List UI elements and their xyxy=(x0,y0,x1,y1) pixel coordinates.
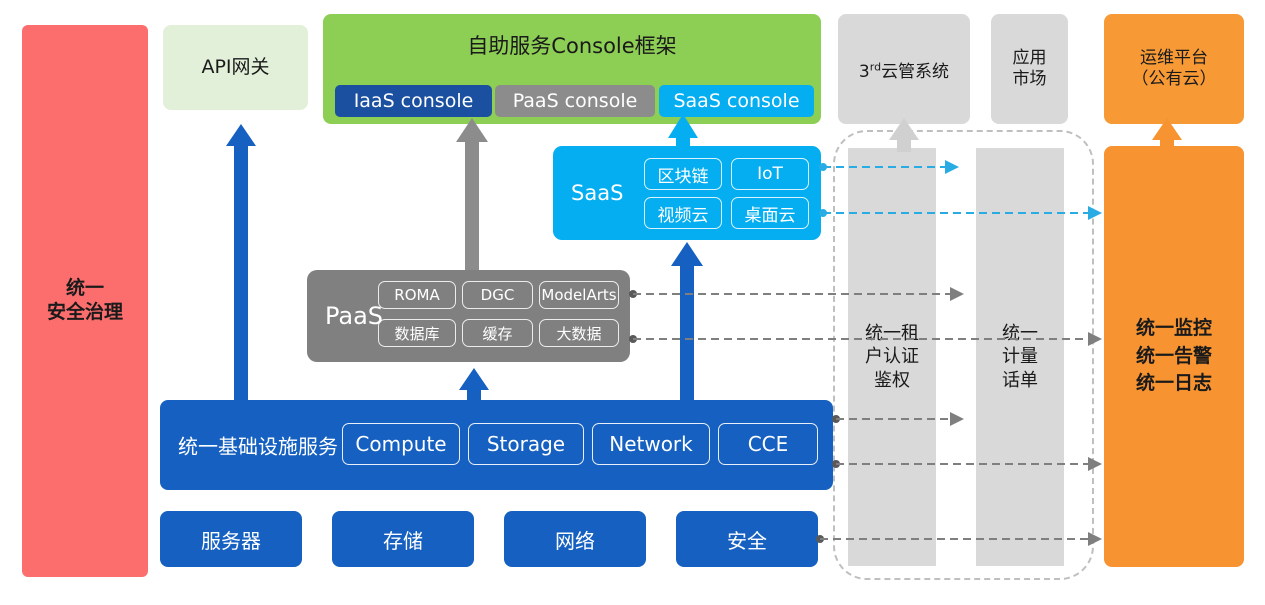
infra-item-compute[interactable]: Compute xyxy=(342,423,460,465)
saas-item-video-cloud-label: 视频云 xyxy=(658,201,709,226)
infra-item-compute-label: Compute xyxy=(355,432,446,456)
paas-item-modelarts-label: ModelArts xyxy=(541,286,616,304)
resource-box-network-label: 网络 xyxy=(555,525,595,554)
arrow-infra-to-api-gateway xyxy=(226,124,256,400)
console-frame-title: 自助服务Console框架 xyxy=(323,30,821,60)
paas-item-cache[interactable]: 缓存 xyxy=(462,319,533,347)
unified-infrastructure-label: 统一基础设施服务 xyxy=(178,431,338,460)
third-party-cloud-mgmt-label: 3rd云管系统 xyxy=(859,57,949,82)
resource-box-server-label: 服务器 xyxy=(201,525,261,554)
paas-item-modelarts[interactable]: ModelArts xyxy=(539,281,619,309)
unified-tenant-auth-label: 统一租 户认证 鉴权 xyxy=(865,322,919,392)
iaas-console-chip[interactable]: IaaS console xyxy=(335,85,492,117)
paas-item-roma[interactable]: ROMA xyxy=(378,281,456,309)
ops-platform-top-box: 运维平台 （公有云） xyxy=(1104,14,1244,124)
resource-box-storage[interactable]: 存储 xyxy=(332,511,474,567)
ops-platform-top-label: 运维平台 （公有云） xyxy=(1132,48,1217,91)
saas-item-blockchain[interactable]: 区块链 xyxy=(644,158,722,190)
resource-box-storage-label: 存储 xyxy=(383,525,423,554)
arrow-infra-to-saas xyxy=(671,242,703,400)
ops-monitoring-label: 统一监控 统一告警 统一日志 xyxy=(1136,315,1212,398)
infra-item-cce[interactable]: CCE xyxy=(718,423,818,465)
infra-item-cce-label: CCE xyxy=(748,432,789,456)
saas-console-chip[interactable]: SaaS console xyxy=(659,85,814,117)
saas-console-label: SaaS console xyxy=(673,90,799,112)
iaas-console-label: IaaS console xyxy=(354,90,474,112)
saas-item-blockchain-label: 区块链 xyxy=(658,162,709,187)
infra-item-storage[interactable]: Storage xyxy=(468,423,584,465)
paas-item-dgc-label: DGC xyxy=(481,286,515,304)
saas-item-video-cloud[interactable]: 视频云 xyxy=(644,197,722,229)
infra-item-network[interactable]: Network xyxy=(592,423,710,465)
api-gateway-box: API网关 xyxy=(163,25,308,110)
infra-item-storage-label: Storage xyxy=(487,432,565,456)
paas-item-roma-label: ROMA xyxy=(394,286,439,304)
third-party-prefix: 3 xyxy=(859,62,870,82)
paas-console-label: PaaS console xyxy=(513,90,638,112)
third-party-suffix: 云管系统 xyxy=(881,62,949,82)
unified-tenant-auth-column: 统一租 户认证 鉴权 xyxy=(848,148,936,566)
third-party-sup: rd xyxy=(870,60,881,73)
architecture-diagram: 统一 安全治理 API网关 自助服务Console框架 IaaS console… xyxy=(0,0,1265,605)
resource-box-server[interactable]: 服务器 xyxy=(160,511,302,567)
resource-box-network[interactable]: 网络 xyxy=(504,511,646,567)
self-service-console-frame: 自助服务Console框架 IaaS console PaaS console … xyxy=(323,14,821,124)
unified-metering-billing-column: 统一 计量 话单 xyxy=(976,148,1064,566)
paas-item-database-label: 数据库 xyxy=(394,323,439,344)
app-market-box: 应用 市场 xyxy=(991,14,1068,124)
app-market-label: 应用 市场 xyxy=(1013,48,1047,91)
arrow-paas-to-console xyxy=(456,118,488,270)
unified-infrastructure-bar: 统一基础设施服务 Compute Storage Network CCE xyxy=(160,400,833,490)
ops-monitoring-panel: 统一监控 统一告警 统一日志 xyxy=(1104,146,1244,567)
saas-layer: SaaS 区块链 IoT 视频云 桌面云 xyxy=(553,146,821,240)
paas-item-bigdata-label: 大数据 xyxy=(556,323,601,344)
resource-box-security[interactable]: 安全 xyxy=(676,511,818,567)
saas-item-iot-label: IoT xyxy=(757,164,783,184)
api-gateway-label: API网关 xyxy=(201,56,269,80)
saas-item-desktop-cloud-label: 桌面云 xyxy=(745,201,796,226)
unified-metering-billing-label: 统一 计量 话单 xyxy=(1002,322,1038,392)
paas-item-bigdata[interactable]: 大数据 xyxy=(539,319,619,347)
saas-layer-label: SaaS xyxy=(571,181,623,205)
paas-item-dgc[interactable]: DGC xyxy=(462,281,533,309)
arrow-infra-to-paas xyxy=(459,368,489,400)
resource-box-security-label: 安全 xyxy=(727,525,767,554)
paas-console-chip[interactable]: PaaS console xyxy=(495,85,655,117)
infra-item-network-label: Network xyxy=(609,432,693,456)
third-party-cloud-mgmt-box: 3rd云管系统 xyxy=(838,14,970,124)
security-governance-label: 统一 安全治理 xyxy=(47,277,123,325)
security-governance-panel: 统一 安全治理 xyxy=(22,25,148,577)
paas-item-cache-label: 缓存 xyxy=(482,323,512,344)
saas-item-iot[interactable]: IoT xyxy=(731,158,809,190)
paas-layer-label: PaaS xyxy=(325,302,383,330)
paas-layer: PaaS ROMA DGC ModelArts 数据库 缓存 大数据 xyxy=(307,270,630,362)
paas-item-database[interactable]: 数据库 xyxy=(378,319,456,347)
saas-item-desktop-cloud[interactable]: 桌面云 xyxy=(731,197,809,229)
